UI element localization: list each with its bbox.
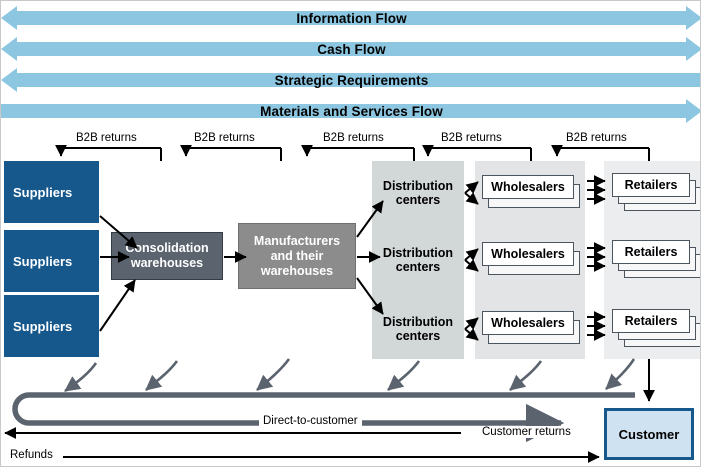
supplier-label-2: Suppliers bbox=[13, 254, 72, 269]
retailer-box-1: Retailers bbox=[612, 173, 690, 197]
b2b-returns-label-5: B2B returns bbox=[566, 132, 627, 144]
b2b-returns-label-1: B2B returns bbox=[76, 132, 137, 144]
consolidation-warehouses-box: Consolidation warehouses bbox=[111, 232, 223, 280]
feeder-arrow-wholesalers bbox=[510, 361, 541, 390]
flow-band-label-strategic-requirements: Strategic Requirements bbox=[1, 67, 701, 93]
feeder-arrow-manufacturers bbox=[257, 359, 289, 390]
feeder-arrow-suppliers bbox=[65, 363, 96, 391]
supplier-box-1: Suppliers bbox=[4, 161, 99, 223]
manufacturers-box: Manufacturers and their warehouses bbox=[238, 223, 356, 289]
supplier-label-3: Suppliers bbox=[13, 319, 72, 334]
customer-label: Customer bbox=[619, 427, 680, 442]
retailer-stack-2: Retailers bbox=[612, 240, 701, 282]
arrow-supplier3-to-consolidation bbox=[100, 280, 135, 331]
manufacturers-label-line3: warehouses bbox=[261, 264, 333, 278]
direct-to-customer-label: Direct-to-customer bbox=[259, 415, 362, 427]
b2b-returns-bracket-4 bbox=[428, 148, 531, 161]
wholesaler-label-1: Wholesalers bbox=[491, 180, 565, 194]
flow-band-cash-flow: Cash Flow bbox=[1, 36, 701, 62]
retailer-label-2: Retailers bbox=[625, 245, 678, 259]
consolidation-label-line2: warehouses bbox=[131, 256, 203, 270]
flow-band-label-information-flow: Information Flow bbox=[1, 5, 701, 31]
arrow-wholesaler3-to-retailer3 bbox=[587, 317, 605, 335]
b2b-returns-bracket-3 bbox=[307, 148, 414, 161]
distribution-center-2: Distribution centers bbox=[372, 238, 464, 282]
retailer-stack-1: Retailers bbox=[612, 173, 701, 215]
refunds-label: Refunds bbox=[7, 449, 56, 461]
wholesaler-label-2: Wholesalers bbox=[491, 247, 565, 261]
wholesaler-label-3: Wholesalers bbox=[491, 316, 565, 330]
wholesaler-stack-3: Wholesalers bbox=[482, 311, 582, 347]
b2b-returns-label-4: B2B returns bbox=[441, 132, 502, 144]
flow-band-strategic-requirements: Strategic Requirements bbox=[1, 67, 701, 93]
customer-returns-label: Customer returns bbox=[479, 426, 574, 438]
manufacturers-label-line1: Manufacturers bbox=[254, 234, 340, 248]
feeder-arrow-distribution-centers bbox=[388, 361, 419, 390]
distribution-center-label-2-line1: Distribution bbox=[383, 246, 453, 260]
b2b-returns-label-2: B2B returns bbox=[194, 132, 255, 144]
feeder-arrow-retailers bbox=[606, 359, 634, 389]
distribution-center-label-1-line2: centers bbox=[396, 193, 440, 207]
wholesaler-box-2: Wholesalers bbox=[482, 242, 574, 266]
retailer-box-2: Retailers bbox=[612, 240, 690, 264]
distribution-center-label-2-line2: centers bbox=[396, 260, 440, 274]
distribution-center-label-1-line1: Distribution bbox=[383, 179, 453, 193]
b2b-returns-bracket-5 bbox=[557, 148, 649, 161]
b2b-returns-bracket-2 bbox=[186, 148, 281, 161]
feeder-arrow-consolidation bbox=[146, 361, 177, 390]
distribution-center-label-3-line2: centers bbox=[396, 329, 440, 343]
flow-band-label-cash-flow: Cash Flow bbox=[1, 36, 701, 62]
b2b-returns-label-3: B2B returns bbox=[323, 132, 384, 144]
customer-box: Customer bbox=[604, 408, 694, 460]
supply-chain-diagram: Information Flow Cash Flow Strategic Req… bbox=[0, 0, 701, 467]
supplier-box-2: Suppliers bbox=[4, 230, 99, 292]
flow-band-materials-and-services-flow: Materials and Services Flow bbox=[1, 98, 701, 124]
retailer-stack-3: Retailers bbox=[612, 309, 701, 351]
retailer-box-3: Retailers bbox=[612, 309, 690, 333]
flow-band-information-flow: Information Flow bbox=[1, 5, 701, 31]
distribution-center-label-3-line1: Distribution bbox=[383, 315, 453, 329]
distribution-center-1: Distribution centers bbox=[372, 171, 464, 215]
wholesaler-box-1: Wholesalers bbox=[482, 175, 574, 199]
arrow-wholesaler2-to-retailer2 bbox=[587, 248, 605, 266]
flow-band-label-materials-and-services-flow: Materials and Services Flow bbox=[1, 98, 701, 124]
b2b-returns-bracket-1 bbox=[61, 148, 161, 161]
wholesaler-stack-2: Wholesalers bbox=[482, 242, 582, 278]
wholesaler-box-3: Wholesalers bbox=[482, 311, 574, 335]
consolidation-label-line1: Consolidation bbox=[125, 241, 208, 255]
arrow-wholesaler1-to-retailer1 bbox=[587, 181, 605, 199]
retailer-label-1: Retailers bbox=[625, 178, 678, 192]
retailer-label-3: Retailers bbox=[625, 314, 678, 328]
wholesaler-stack-1: Wholesalers bbox=[482, 175, 582, 211]
supplier-label-1: Suppliers bbox=[13, 185, 72, 200]
distribution-center-3: Distribution centers bbox=[372, 307, 464, 351]
manufacturers-label-line2: and their bbox=[271, 249, 324, 263]
supplier-box-3: Suppliers bbox=[4, 295, 99, 357]
